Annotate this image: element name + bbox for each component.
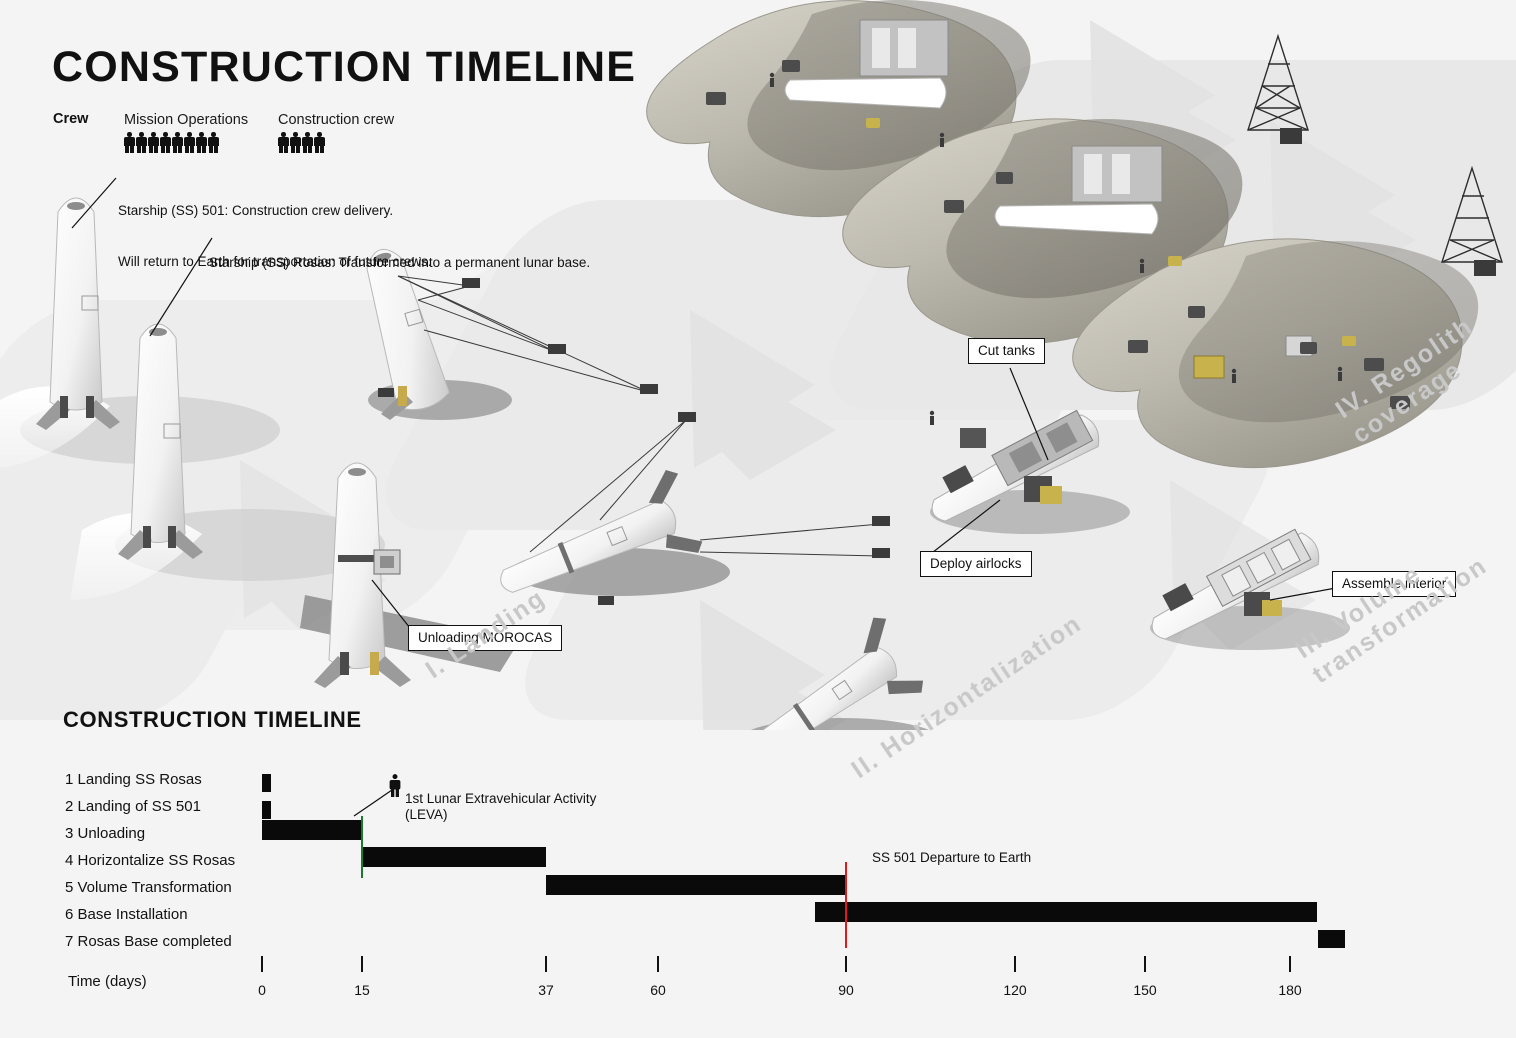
axis-tick-label: 37 — [524, 982, 568, 998]
axis-tick — [361, 956, 363, 972]
person-icon — [184, 132, 195, 153]
axis-title-time: Time (days) — [68, 973, 147, 990]
axis-tick-label: 120 — [993, 982, 1037, 998]
axis-tick-label: 150 — [1123, 982, 1167, 998]
person-icon — [136, 132, 147, 153]
axis-tick — [657, 956, 659, 972]
construction-timeline-chart: CONSTRUCTION TIMELINE 1 Landing SS Rosas… — [0, 690, 1516, 1038]
crew-legend-label: Crew — [53, 111, 88, 127]
person-icon-row — [124, 132, 248, 153]
crew-group-label: Mission Operations — [124, 112, 248, 128]
time-axis: 015376090120150180 — [0, 690, 1516, 1038]
crew-group-mission-operations: Mission Operations — [124, 112, 248, 153]
axis-tick-label: 60 — [636, 982, 680, 998]
annotation-ss-rosas: Starship (SS) Rosas: Transformed into a … — [209, 220, 590, 305]
axis-tick-label: 90 — [824, 982, 868, 998]
infographic-canvas: CONSTRUCTION TIMELINE Crew Mission Opera… — [0, 0, 1516, 1038]
annotation-line: Starship (SS) Rosas: Transformed into a … — [209, 254, 590, 271]
axis-tick — [1289, 956, 1291, 972]
person-icon — [290, 132, 301, 153]
axis-tick — [845, 956, 847, 972]
page-title: CONSTRUCTION TIMELINE — [52, 46, 636, 89]
morocas-module — [374, 550, 400, 574]
person-icon — [160, 132, 171, 153]
person-icon — [172, 132, 183, 153]
annotation-line: Starship (SS) 501: Construction crew del… — [118, 202, 432, 219]
crew-group-construction-crew: Construction crew — [278, 112, 394, 153]
axis-tick — [1014, 956, 1016, 972]
person-icon — [196, 132, 207, 153]
person-icon — [302, 132, 313, 153]
person-icon — [208, 132, 219, 153]
axis-tick — [545, 956, 547, 972]
scene-illustration — [0, 0, 1516, 730]
person-icon — [278, 132, 289, 153]
person-icon — [124, 132, 135, 153]
person-icon — [314, 132, 325, 153]
crew-group-label: Construction crew — [278, 112, 394, 128]
axis-tick — [261, 956, 263, 972]
axis-tick-label: 15 — [340, 982, 384, 998]
callout-cut-tanks[interactable]: Cut tanks — [968, 338, 1045, 364]
person-icon — [148, 132, 159, 153]
person-icon-row — [278, 132, 394, 153]
callout-deploy-airlocks[interactable]: Deploy airlocks — [920, 551, 1032, 577]
axis-tick-label: 180 — [1268, 982, 1312, 998]
axis-tick-label: 0 — [240, 982, 284, 998]
axis-tick — [1144, 956, 1146, 972]
